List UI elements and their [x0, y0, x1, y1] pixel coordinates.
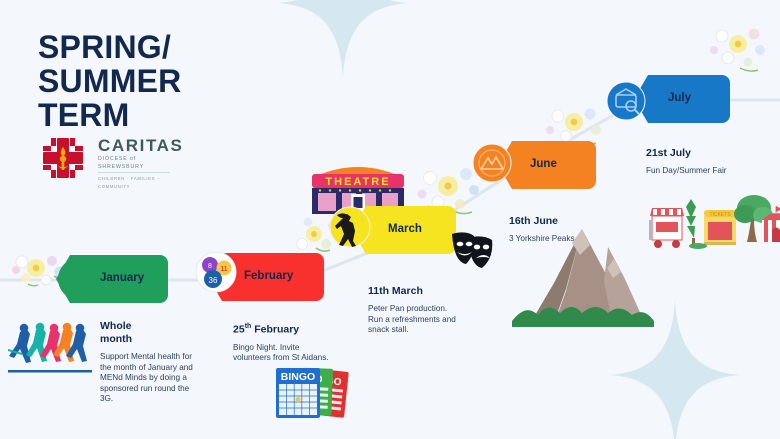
caption-body: Peter Pan production. Run a refreshments…: [368, 304, 464, 336]
svg-text:BINGO: BINGO: [281, 371, 315, 383]
theatre-performer-icon[interactable]: [329, 206, 371, 248]
month-dot-january: [58, 258, 100, 300]
logo-subtitle: DIOCESE of SHREWSBURY: [98, 155, 170, 173]
runners-illustration: [8, 322, 92, 378]
title-line-1: SPRING/: [38, 30, 268, 64]
mountain-illustration: [512, 225, 654, 327]
caption-heading: 21st July: [646, 147, 776, 160]
page-title: SPRING/ SUMMER TERM: [38, 30, 268, 132]
caption-body: Support Mental health for the month of J…: [100, 352, 196, 405]
caption-heading: 25th February: [233, 320, 329, 337]
bingo-balls-icon[interactable]: 8 11 36: [195, 251, 237, 293]
title-line-3: TERM: [38, 98, 268, 132]
caption-body: Fun Day/Summer Fair: [646, 166, 776, 177]
caption-january: Whole month Support Mental health for th…: [100, 320, 196, 405]
summer-fair-illustration: TICKETS: [644, 186, 780, 258]
caption-body: Bingo Night. Invite volunteers from St A…: [233, 343, 329, 364]
caption-heading: Whole month: [100, 320, 196, 346]
slide-canvas: SPRING/ SUMMER TERM CARITAS DIOCESE o: [0, 0, 780, 439]
caption-day: 25: [233, 324, 245, 336]
svg-text:11: 11: [220, 266, 227, 273]
month-label-january: January: [100, 272, 144, 284]
caritas-cross-icon: [40, 135, 86, 181]
caritas-wordmark: CARITAS DIOCESE of SHREWSBURY CHILDREN ·…: [98, 136, 184, 191]
caption-july: 21st July Fun Day/Summer Fair: [646, 147, 776, 177]
month-label-march: March: [388, 223, 422, 235]
fairground-badge-icon[interactable]: [606, 81, 646, 121]
svg-text:8: 8: [208, 263, 212, 270]
logo-tagline: CHILDREN · FAMILIES · COMMUNITY: [98, 175, 184, 191]
caption-february: 25th February Bingo Night. Invite volunt…: [233, 320, 329, 364]
caption-march: 11th March Peter Pan production. Run a r…: [368, 285, 464, 336]
title-line-2: SUMMER: [38, 64, 268, 98]
month-label-june: June: [530, 158, 557, 170]
caption-month: February: [251, 324, 299, 336]
logo-name: CARITAS: [98, 136, 184, 155]
caritas-logo: CARITAS DIOCESE of SHREWSBURY CHILDREN ·…: [40, 136, 170, 182]
bingo-cards-illustration: GO O BINGO: [272, 363, 354, 435]
svg-text:THEATRE: THEATRE: [325, 176, 390, 188]
svg-text:36: 36: [209, 276, 218, 285]
caption-heading: 11th March: [368, 285, 464, 298]
svg-text:TICKETS: TICKETS: [709, 212, 731, 218]
month-label-july: July: [668, 92, 691, 104]
month-label-february: February: [244, 270, 293, 282]
comedy-tragedy-masks-illustration: [448, 230, 496, 272]
mountain-badge-icon[interactable]: [472, 143, 512, 183]
